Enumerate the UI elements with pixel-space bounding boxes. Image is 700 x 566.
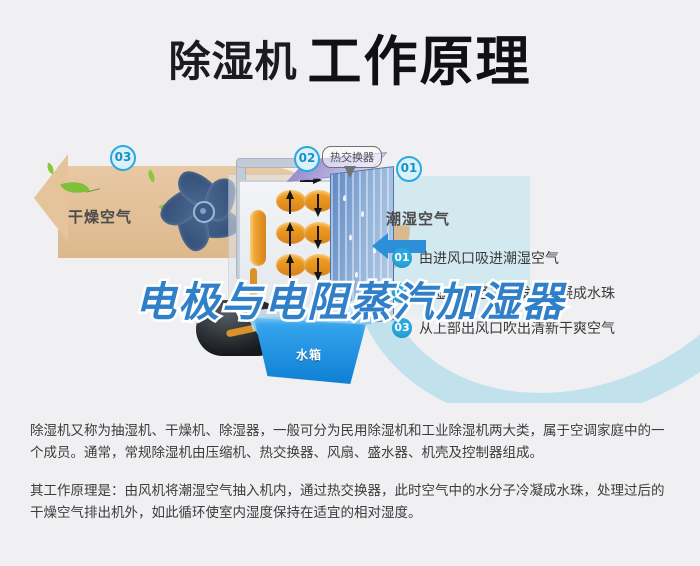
step-badge-01: 01: [392, 248, 412, 268]
flow-arrow-up-icon: [286, 222, 294, 231]
water-tank-label: 水箱: [296, 346, 322, 363]
fan-hub: [193, 201, 215, 223]
diagram-label-moist-air: 潮湿空气: [386, 208, 450, 229]
flow-arrow-up-icon: [286, 254, 294, 263]
air-inlet-arrow-head: [372, 233, 388, 259]
flow-arrow-down-icon: [314, 240, 322, 249]
diagram-badge-03: 03: [110, 145, 136, 171]
bubble-tail-icon: [344, 166, 356, 178]
page-title: 除湿机 工作原理: [0, 22, 700, 102]
flow-arrow-down-icon: [314, 208, 322, 217]
title-part-1: 除湿机: [168, 41, 297, 83]
diagram-label-heat-exchanger: 热交换器: [322, 146, 382, 168]
flow-arrow-stem: [289, 198, 291, 214]
flow-arrow-up-icon: [286, 190, 294, 199]
refrigerant-accumulator: [250, 210, 266, 266]
poster-page: 除湿机 工作原理: [0, 0, 700, 566]
list-item: 01 由进风口吸进潮湿空气: [392, 248, 692, 268]
title-part-2: 工作原理: [308, 35, 532, 89]
paragraph-2: 其工作原理是：由风机将潮湿空气抽入机内，通过热交换器，此时空气中的水分子冷凝成水…: [30, 480, 674, 524]
description-block: 除湿机又称为抽湿机、干燥机、除湿器，一般可分为民用除湿机和工业除湿机两大类，属于…: [30, 420, 674, 540]
diagram-label-dry-air: 干燥空气: [68, 206, 132, 227]
diagram-badge-01: 01: [396, 156, 422, 182]
flow-arrow-stem: [289, 230, 291, 246]
paragraph-1: 除湿机又称为抽湿机、干燥机、除湿器，一般可分为民用除湿机和工业除湿机两大类，属于…: [30, 420, 674, 464]
diagram-badge-02: 02: [294, 146, 320, 172]
watermark-text: 电极与电阻蒸汽加湿器: [0, 268, 700, 328]
step-text-01: 由进风口吸进潮湿空气: [419, 248, 559, 268]
